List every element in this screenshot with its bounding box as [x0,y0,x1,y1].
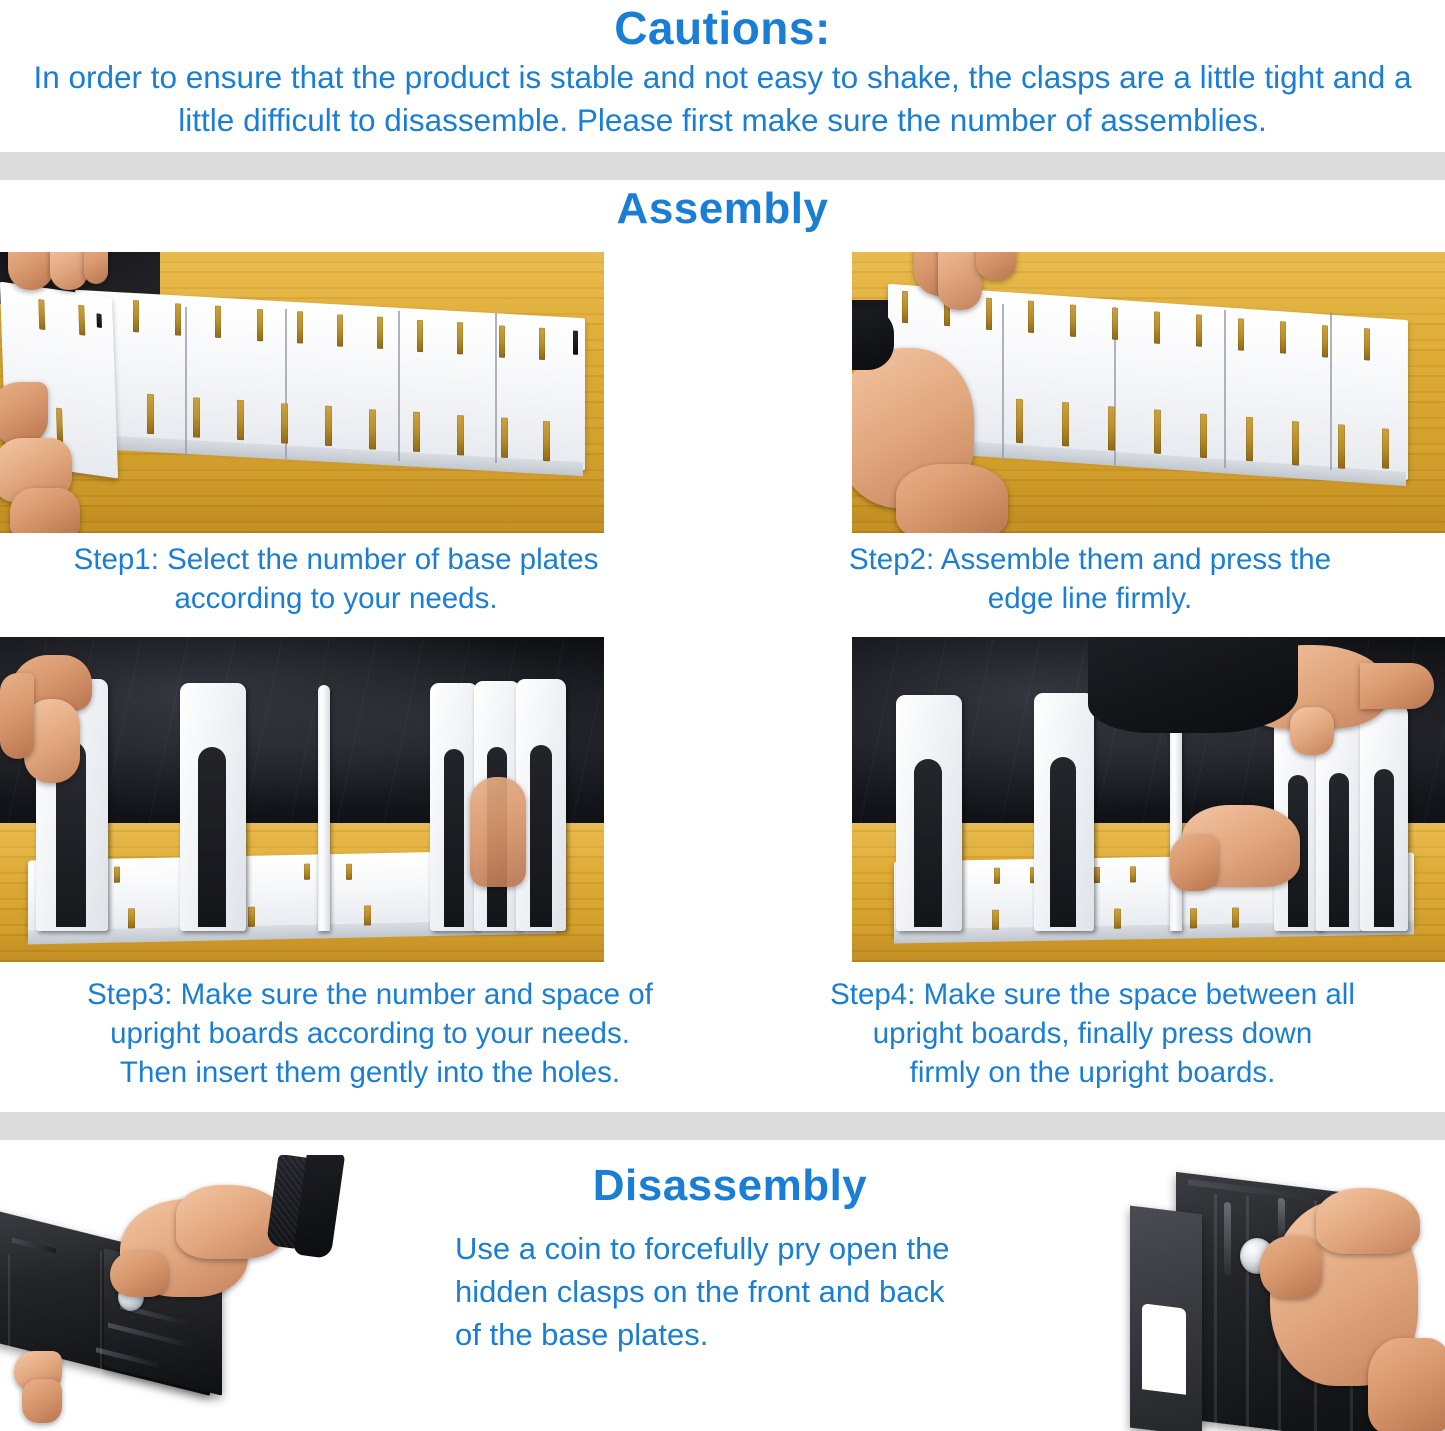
disassembly-line3: of the base plates. [455,1314,1055,1357]
step3-photo [0,637,604,962]
step2-caption-line1: Step2: Assemble them and press the [740,540,1440,579]
step1-caption: Step1: Select the number of base plates … [0,540,672,618]
step2-caption-line2: edge line firmly. [740,579,1440,618]
divider-band-middle [0,1112,1445,1140]
step2-photo [852,252,1445,533]
step4-caption-line3: firmly on the upright boards. [740,1053,1445,1092]
step4-caption-line2: upright boards, finally press down [740,1014,1445,1053]
step3-caption-line2: upright boards according to your needs. [0,1014,740,1053]
step3-caption: Step3: Make sure the number and space of… [0,975,740,1093]
step1-photo [0,252,604,533]
disassembly-line1: Use a coin to forcefully pry open the [455,1228,1055,1271]
assembly-title: Assembly [0,186,1445,232]
step4-caption: Step4: Make sure the space between all u… [740,975,1445,1093]
step4-photo [852,637,1445,962]
step1-caption-line1: Step1: Select the number of base plates [0,540,672,579]
disassembly-body: Use a coin to forcefully pry open the hi… [455,1228,1055,1356]
step1-caption-line2: according to your needs. [0,579,672,618]
disassembly-photo-left [0,1155,370,1431]
disassembly-line2: hidden clasps on the front and back [455,1271,1055,1314]
disassembly-title: Disassembly [420,1163,1040,1209]
divider-band-top [0,152,1445,180]
step3-caption-line1: Step3: Make sure the number and space of [0,975,740,1014]
disassembly-photo-right [1118,1158,1445,1431]
instruction-infographic: Cautions: In order to ensure that the pr… [0,0,1445,1431]
cautions-body: In order to ensure that the product is s… [0,56,1445,141]
step2-caption: Step2: Assemble them and press the edge … [740,540,1440,618]
step4-caption-line1: Step4: Make sure the space between all [740,975,1445,1014]
cautions-section: Cautions: In order to ensure that the pr… [0,0,1445,150]
cautions-title: Cautions: [0,4,1445,52]
step3-caption-line3: Then insert them gently into the holes. [0,1053,740,1092]
